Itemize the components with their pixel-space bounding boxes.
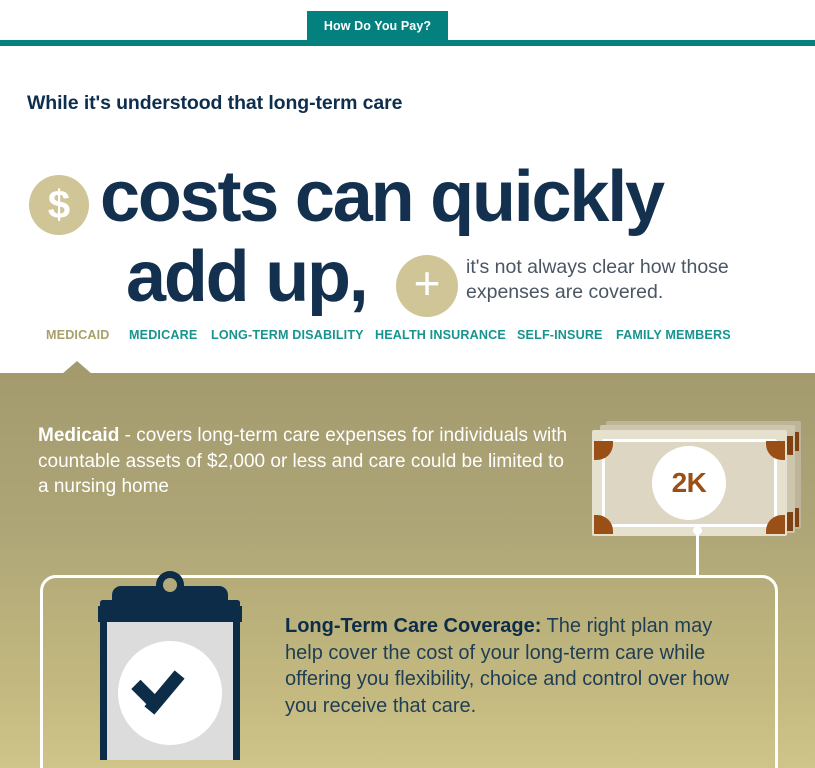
hero-kicker: While it's understood that long-term car… [27,92,402,115]
infographic-canvas: How Do You Pay? While it's understood th… [0,0,815,768]
clipboard-ring-hole [163,578,177,592]
tab-health-insurance[interactable]: HEALTH INSURANCE [375,328,506,342]
checkmark-icon [140,666,202,700]
banknote-front: 2K [592,430,787,536]
tab-self-insure[interactable]: SELF-INSURE [517,328,603,342]
dollar-icon: $ [29,175,89,235]
plus-icon: + [396,255,458,317]
tab-long-term-disability[interactable]: LONG-TERM DISABILITY [211,328,364,342]
section-tab-how-do-you-pay[interactable]: How Do You Pay? [307,11,448,41]
dollar-glyph: $ [48,185,70,225]
hero-subnote: it's not always clear how those expenses… [466,255,786,306]
medicaid-term: Medicaid [38,425,119,446]
callout-text: Long-Term Care Coverage: The right plan … [285,613,733,719]
hero-section: While it's understood that long-term car… [0,46,815,326]
tab-medicaid[interactable]: MEDICAID [46,328,109,342]
callout-title: Long-Term Care Coverage: [285,615,541,637]
banknote-stack-icon: 2K [592,421,805,538]
tab-medicare[interactable]: MEDICARE [129,328,197,342]
clipboard-clamp-bar [98,606,242,622]
asset-limit-badge: 2K [652,446,726,520]
tab-family-members[interactable]: FAMILY MEMBERS [616,328,731,342]
clipboard-check-icon [80,568,260,760]
hero-headline-line-1: costs can quickly [100,164,663,230]
hero-headline-line-2: add up, [126,244,367,310]
coverage-type-tabs: MEDICAID MEDICARE LONG-TERM DISABILITY H… [0,328,815,372]
top-bar: How Do You Pay? [0,0,815,46]
medicaid-description: Medicaid - covers long-term care expense… [38,423,568,500]
plus-glyph: + [414,260,441,306]
connector-line [696,530,699,578]
